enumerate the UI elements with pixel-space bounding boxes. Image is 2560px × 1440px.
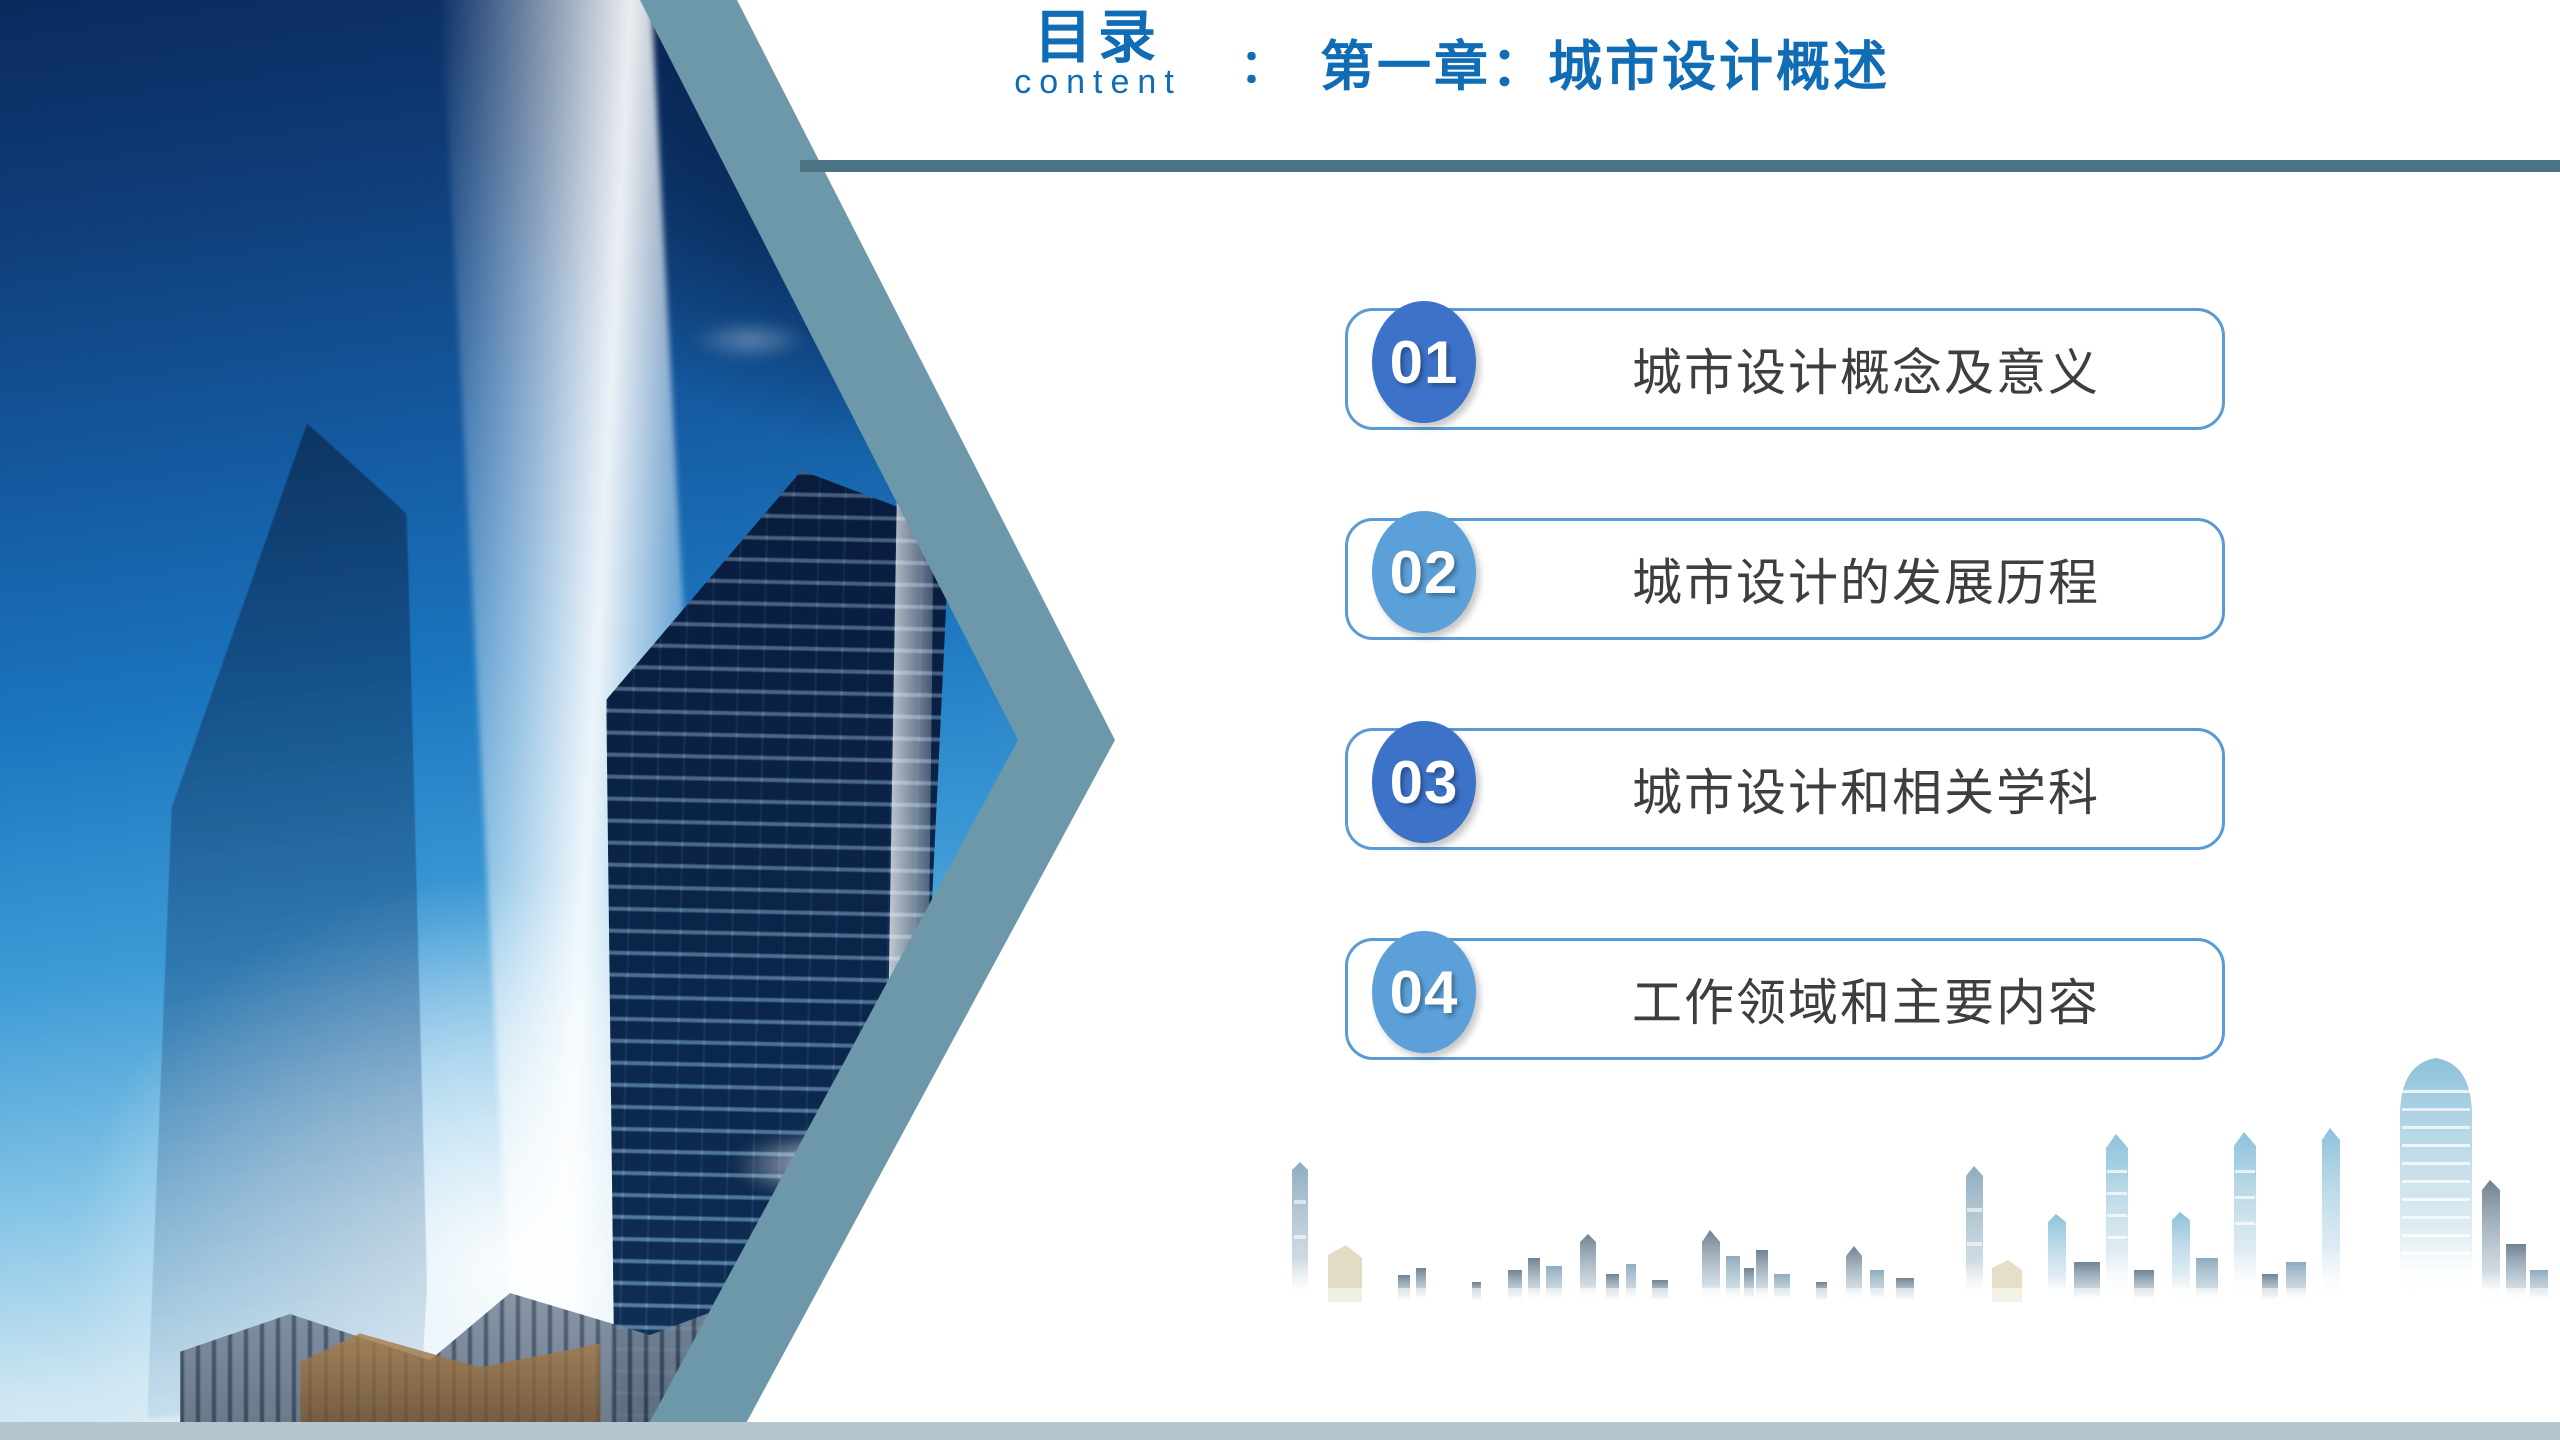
header-divider (800, 160, 2560, 172)
toc-item-label: 城市设计的发展历程 (1538, 521, 2194, 637)
toc-item[interactable]: 04 工作领域和主要内容 (1345, 938, 2225, 1060)
toc-item[interactable]: 02 城市设计的发展历程 (1345, 518, 2225, 640)
bottom-accent-bar (0, 1422, 2560, 1440)
toc-item-number-badge: 03 (1372, 721, 1476, 843)
chapter-title: 第一章：城市设计概述 (1320, 22, 1890, 101)
toc-item-label: 城市设计和相关学科 (1538, 731, 2194, 847)
toc-item-label: 城市设计概念及意义 (1538, 311, 2194, 427)
reflected-tower (70, 416, 476, 1419)
slide-canvas: 目录 content ： 第一章：城市设计概述 01 城市设计概念及意义 02 … (0, 0, 2560, 1440)
toc-list: 01 城市设计概念及意义 02 城市设计的发展历程 03 城市设计和相关学科 0… (1345, 308, 2225, 1148)
toc-title-block: 目录 content (968, 8, 1228, 101)
toc-item-number-badge: 04 (1372, 931, 1476, 1053)
toc-item-number-badge: 02 (1372, 511, 1476, 633)
cloud-wisp (690, 320, 810, 360)
toc-title-en: content (968, 65, 1228, 101)
toc-item-label: 工作领域和主要内容 (1538, 941, 2194, 1057)
toc-item[interactable]: 03 城市设计和相关学科 (1345, 728, 2225, 850)
toc-item[interactable]: 01 城市设计概念及意义 (1345, 308, 2225, 430)
slide-header: 目录 content ： 第一章：城市设计概述 (0, 0, 2560, 172)
header-separator: ： (1240, 30, 1286, 96)
toc-item-number-badge: 01 (1372, 301, 1476, 423)
cloud-wisp (880, 1280, 1030, 1332)
hero-photo (0, 0, 1100, 1440)
photo-sky-background (0, 0, 1100, 1440)
toc-title-cn: 目录 (968, 8, 1228, 67)
